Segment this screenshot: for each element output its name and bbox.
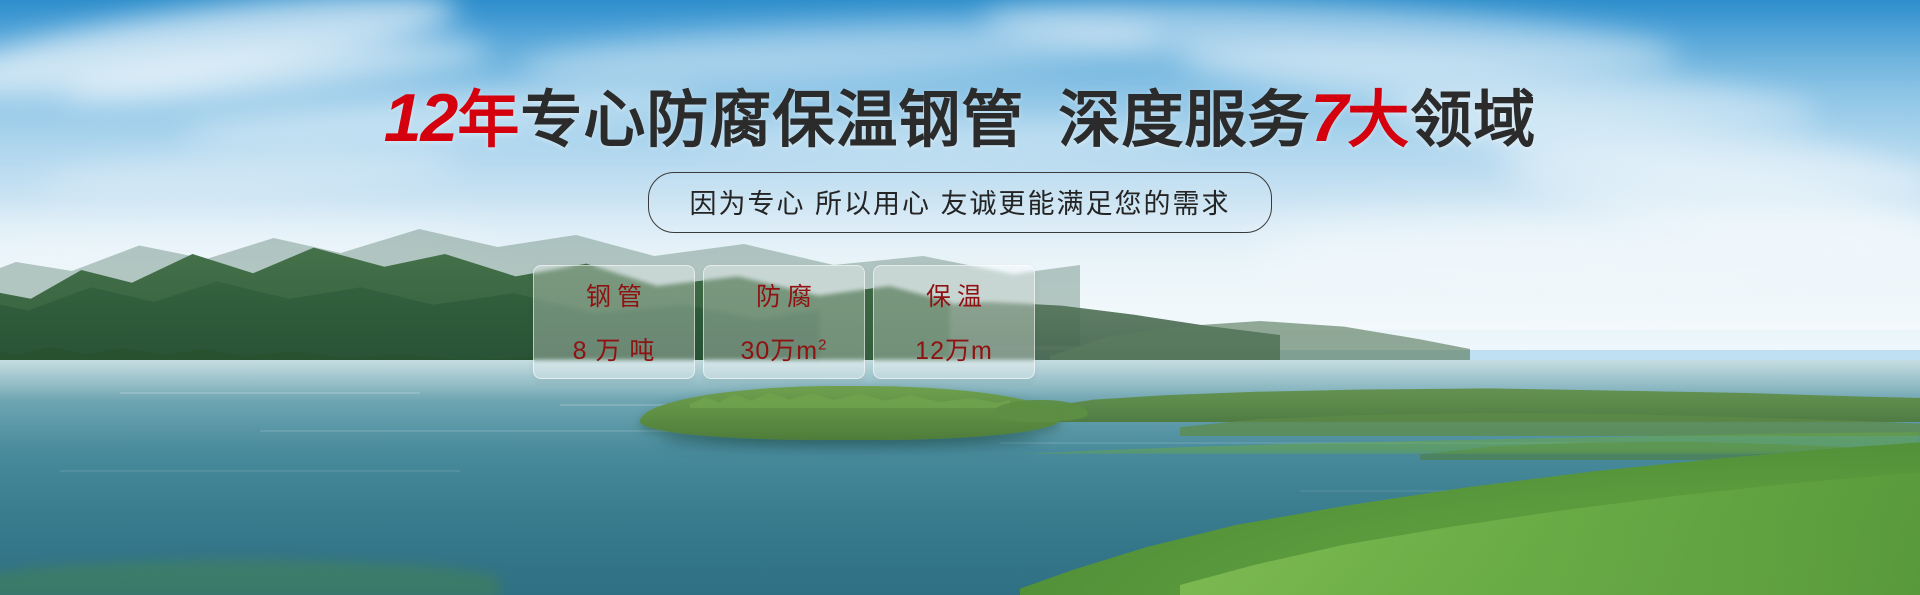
stat-card-value-text: 12万m xyxy=(915,337,993,365)
hero-banner: 12年专心防腐保温钢管深度服务7大领域 因为专心 所以用心 友诚更能满足您的需求… xyxy=(0,0,1920,595)
stat-card-title: 保温 xyxy=(920,277,988,313)
water-ripple xyxy=(120,392,420,394)
headline-years-number: 12 xyxy=(384,80,458,156)
stat-card-value-text: 30万m xyxy=(741,337,819,365)
stat-card-value: 12万m xyxy=(915,331,993,367)
page-title: 12年专心防腐保温钢管深度服务7大领域 xyxy=(0,84,1920,152)
stat-card-value-superscript: 2 xyxy=(818,337,827,354)
headline-fields-unit: 大 xyxy=(1347,86,1410,155)
stat-card-value-text: 8 万 吨 xyxy=(573,337,656,365)
stat-card-steel-pipe[interactable]: 钢管 8 万 吨 xyxy=(533,265,695,379)
stat-cards: 钢管 8 万 吨 防腐 30万m2 保温 12万m xyxy=(533,265,1035,379)
subtitle-pill: 因为专心 所以用心 友诚更能满足您的需求 xyxy=(648,172,1271,233)
foreground-grass-left xyxy=(0,560,500,595)
stat-card-insulation[interactable]: 保温 12万m xyxy=(873,265,1035,379)
stat-card-value: 8 万 吨 xyxy=(573,331,656,367)
headline-service-text: 深度服务 xyxy=(1058,86,1310,155)
subtitle-container: 因为专心 所以用心 友诚更能满足您的需求 xyxy=(0,172,1920,233)
stat-card-anticorrosion[interactable]: 防腐 30万m2 xyxy=(703,265,865,379)
headline-main-text: 专心防腐保温钢管 xyxy=(520,86,1024,155)
headline-fields-text: 领域 xyxy=(1410,86,1536,155)
headline-fields-number: 7 xyxy=(1310,80,1347,156)
headline-years-unit: 年 xyxy=(457,86,520,155)
stat-card-title: 钢管 xyxy=(580,277,648,313)
small-island xyxy=(992,400,1088,422)
stat-card-title: 防腐 xyxy=(750,277,818,313)
water-ripple xyxy=(60,470,460,472)
stat-card-value: 30万m2 xyxy=(741,331,828,367)
